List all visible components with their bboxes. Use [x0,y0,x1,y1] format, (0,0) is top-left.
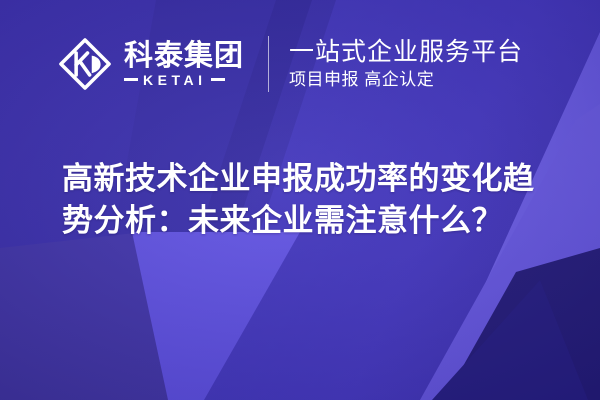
banner-header: 科泰集团 KETAI 一站式企业服务平台 项目申报 高企认定 [58,36,523,92]
headline-line-2: 势分析：未来企业需注意什么？ [62,200,562,242]
tagline-block: 一站式企业服务平台 项目申报 高企认定 [289,38,523,89]
brand-dash-left-icon [124,78,138,81]
header-divider [268,36,269,92]
headline: 高新技术企业申报成功率的变化趋 势分析：未来企业需注意什么？ [62,158,562,242]
ketai-diamond-k-logo-icon [58,37,112,91]
brand-dash-right-icon [211,78,225,81]
promo-banner: 科泰集团 KETAI 一站式企业服务平台 项目申报 高企认定 高新技术企业申报成… [0,0,600,400]
brand-name-cn: 科泰集团 [124,41,244,71]
brand-wordmark: 科泰集团 KETAI [124,41,244,86]
headline-line-1: 高新技术企业申报成功率的变化趋 [62,158,562,200]
brand-logo[interactable]: 科泰集团 KETAI [58,37,244,91]
brand-name-en-row: KETAI [124,73,244,87]
tagline-main: 一站式企业服务平台 [289,38,523,66]
brand-name-en: KETAI [143,73,206,87]
tagline-sub: 项目申报 高企认定 [289,70,523,89]
